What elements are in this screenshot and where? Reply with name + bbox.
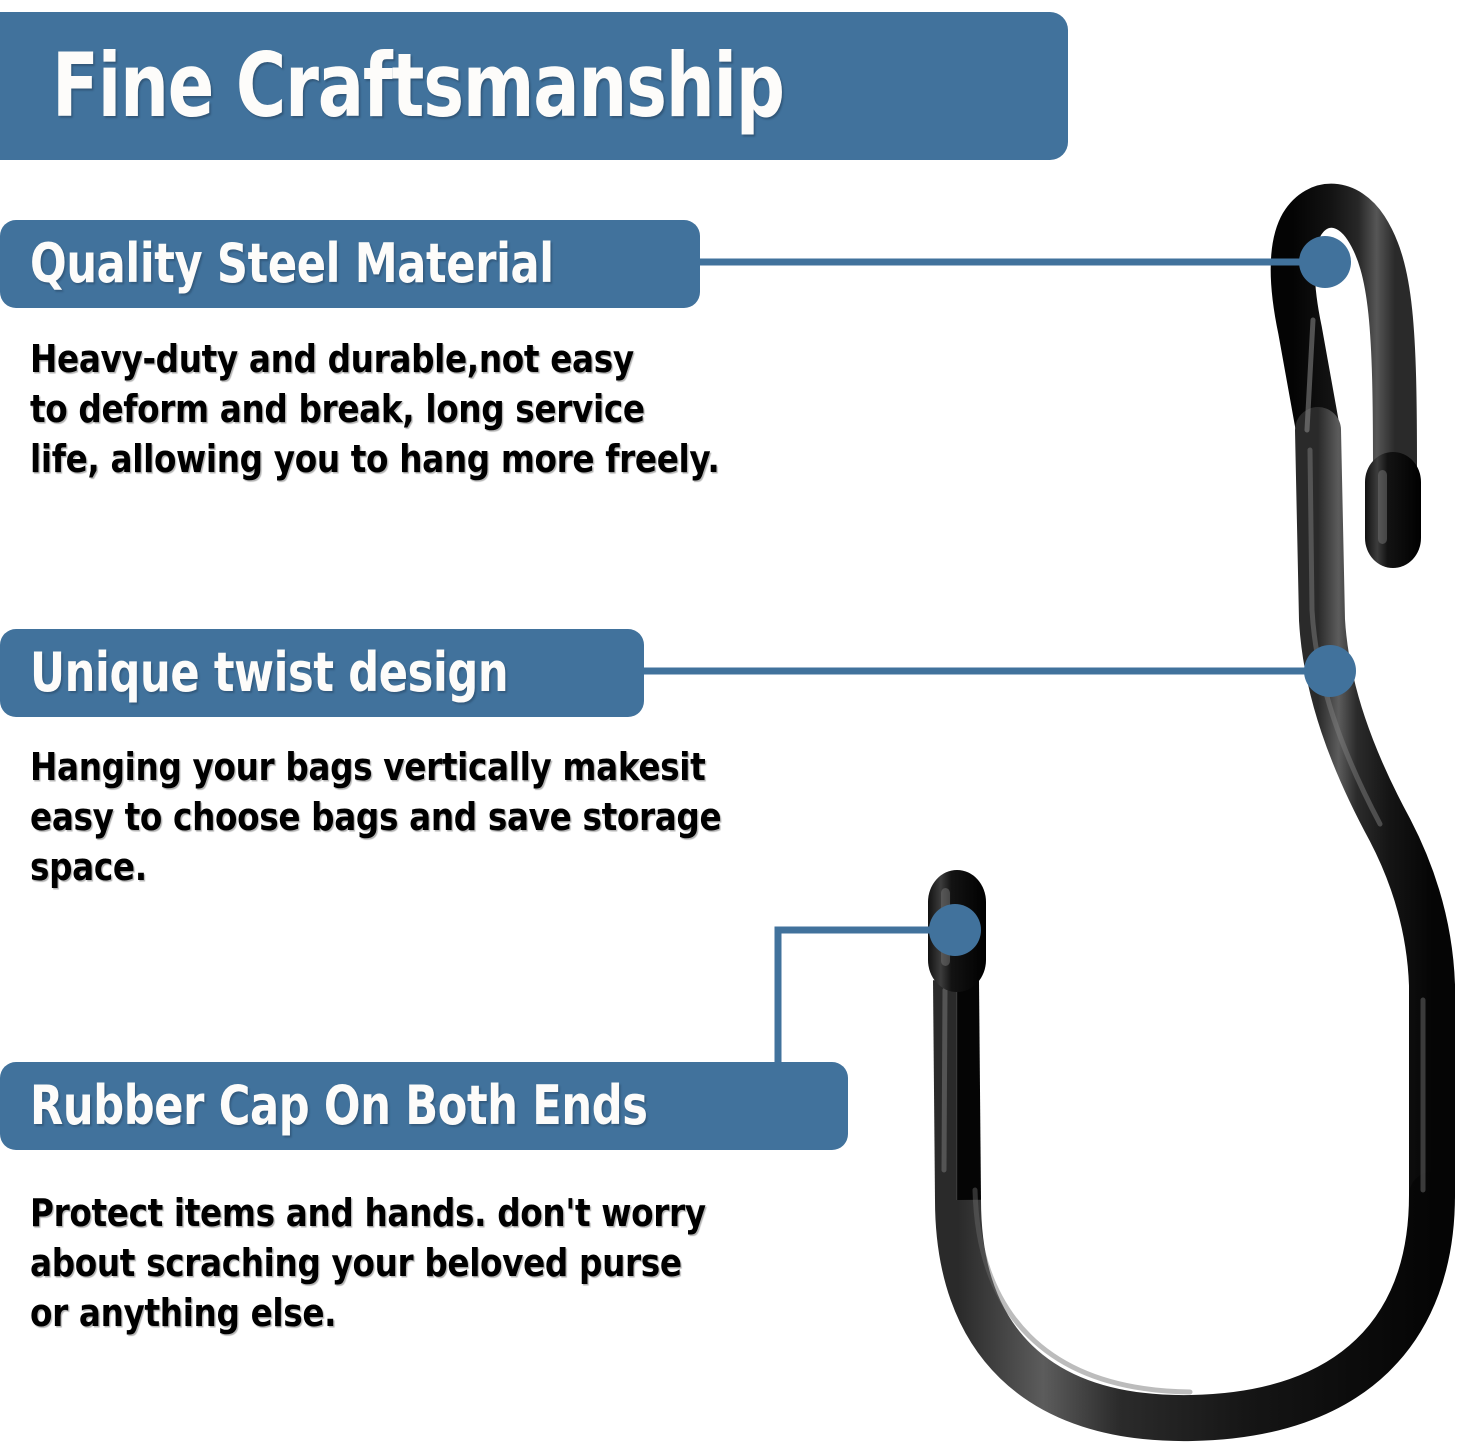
feature-label-text: Rubber Cap On Both Ends [30, 1079, 648, 1133]
callout-dot-steel [1299, 236, 1351, 288]
hook-body [944, 206, 1432, 1418]
callout-dot-rubber [929, 904, 981, 956]
page-title: Fine Craftsmanship [52, 42, 784, 130]
feature-label-rubber-cap-on-both-ends: Rubber Cap On Both Ends [0, 1062, 848, 1150]
feature-label-text: Quality Steel Material [30, 237, 554, 291]
callout-line-steel [700, 236, 1351, 288]
feature-body-unique-twist-design: Hanging your bags vertically makesit eas… [30, 742, 830, 892]
feature-body-rubber-cap-on-both-ends: Protect items and hands. don't worry abo… [30, 1188, 830, 1338]
hook-top-arch [1293, 206, 1395, 470]
hook-highlight-shaft [1310, 450, 1380, 824]
hook-bottom-curve [958, 1195, 1432, 1418]
hook-main-shaft [1318, 430, 1432, 1195]
callout-line-twist [644, 645, 1356, 697]
infographic-canvas: Fine Craftsmanship Quality Steel Materia… [0, 0, 1469, 1443]
hook-highlight-left-leg [944, 990, 945, 1170]
rubber-cap-top [1365, 452, 1421, 568]
feature-label-unique-twist-design: Unique twist design [0, 629, 644, 717]
header-banner: Fine Craftsmanship [0, 12, 1068, 160]
hook-highlight-top [1307, 320, 1313, 430]
callout-line-rubber [778, 904, 981, 1068]
callout-dot-twist [1304, 645, 1356, 697]
feature-label-text: Unique twist design [30, 646, 508, 700]
rubber-cap-bottom [928, 870, 986, 992]
feature-body-quality-steel-material: Heavy-duty and durable,not easy to defor… [30, 334, 804, 484]
feature-label-quality-steel-material: Quality Steel Material [0, 220, 700, 308]
hook-left-leg [956, 980, 958, 1200]
hook-highlight-bottom [975, 1190, 1190, 1392]
